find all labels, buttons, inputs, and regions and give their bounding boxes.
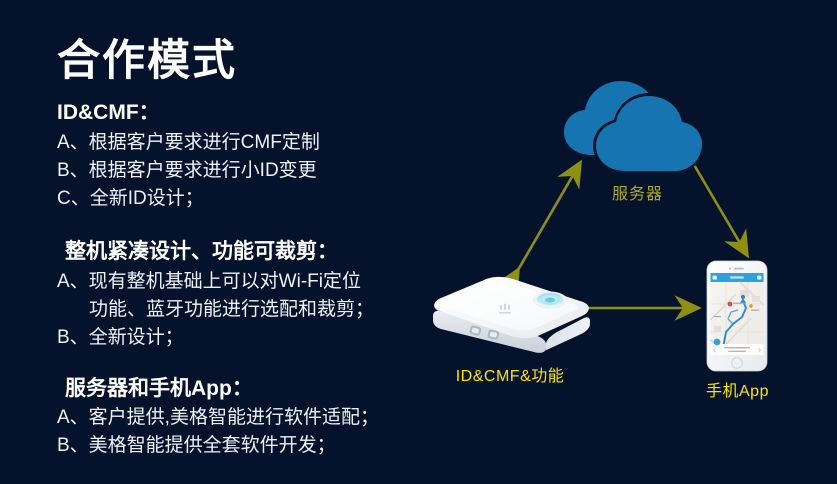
bullet-item: B、美格智能提供全套软件开发； — [57, 432, 457, 460]
bullet-item: B、全新设计； — [57, 324, 457, 352]
bullet-item-continuation: 功能、蓝牙功能进行选配和裁剪； — [57, 296, 457, 324]
device-node[interactable] — [428, 274, 593, 359]
arrow-device-to-server — [518, 163, 580, 270]
device-label: ID&CMF&功能 — [420, 362, 600, 386]
server-label: 服务器 — [580, 180, 695, 204]
bullet-item: C、全新ID设计； — [57, 185, 457, 213]
section-compact-design: 整机紧凑设计、功能可裁剪： A、现有整机基础上可以对Wi-Fi定位 功能、蓝牙功… — [57, 237, 457, 352]
gateway-device-icon — [428, 274, 593, 359]
text-content-column: 合作模式 ID&CMF： A、根据客户要求进行CMF定制 B、根据客户要求进行小… — [57, 38, 457, 464]
phone-label: 手机App — [690, 377, 785, 401]
phone-node[interactable] — [706, 260, 768, 372]
section-spacer — [57, 356, 457, 374]
section-server-app: 服务器和手机App： A、客户提供,美格智能进行软件适配； B、美格智能提供全套… — [57, 374, 457, 461]
architecture-diagram: 服务器 — [410, 20, 837, 464]
page-title: 合作模式 — [57, 38, 457, 85]
bullet-item: A、根据客户要求进行CMF定制 — [57, 129, 457, 157]
cloud-icon — [562, 77, 707, 177]
section-id-cmf: ID&CMF： A、根据客户要求进行CMF定制 B、根据客户要求进行小ID变更 … — [57, 98, 457, 213]
section-spacer — [57, 217, 457, 237]
section-heading: 整机紧凑设计、功能可裁剪： — [57, 237, 457, 267]
bullet-item: A、客户提供,美格智能进行软件适配； — [57, 404, 457, 432]
section-heading: ID&CMF： — [57, 98, 457, 128]
bullet-item: B、根据客户要求进行小ID变更 — [57, 157, 457, 185]
server-node[interactable] — [562, 77, 707, 177]
smartphone-map-icon — [706, 260, 768, 372]
section-heading: 服务器和手机App： — [57, 374, 457, 404]
bullet-item: A、现有整机基础上可以对Wi-Fi定位 — [57, 268, 457, 296]
slide-canvas: 合作模式 ID&CMF： A、根据客户要求进行CMF定制 B、根据客户要求进行小… — [0, 0, 837, 484]
